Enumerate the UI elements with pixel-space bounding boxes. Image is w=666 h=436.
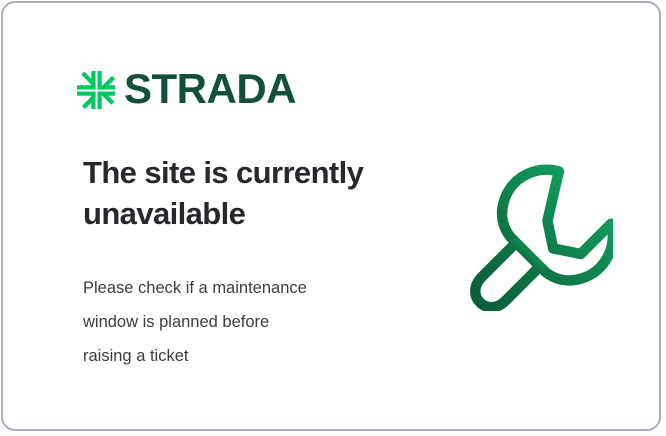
description-line: raising a ticket <box>83 339 393 373</box>
site-unavailable-card: STRADA The site is currently unavailable… <box>1 1 661 431</box>
description-line: Please check if a maintenance <box>83 271 393 305</box>
page-title: The site is currently unavailable <box>83 153 413 235</box>
wrench-icon <box>461 161 613 311</box>
brand-logo: STRADA <box>77 69 296 111</box>
brand-wordmark: STRADA <box>124 68 296 110</box>
description-line: window is planned before <box>83 305 393 339</box>
page-description: Please check if a maintenance window is … <box>83 271 393 373</box>
asterisk-star-icon <box>77 71 115 109</box>
